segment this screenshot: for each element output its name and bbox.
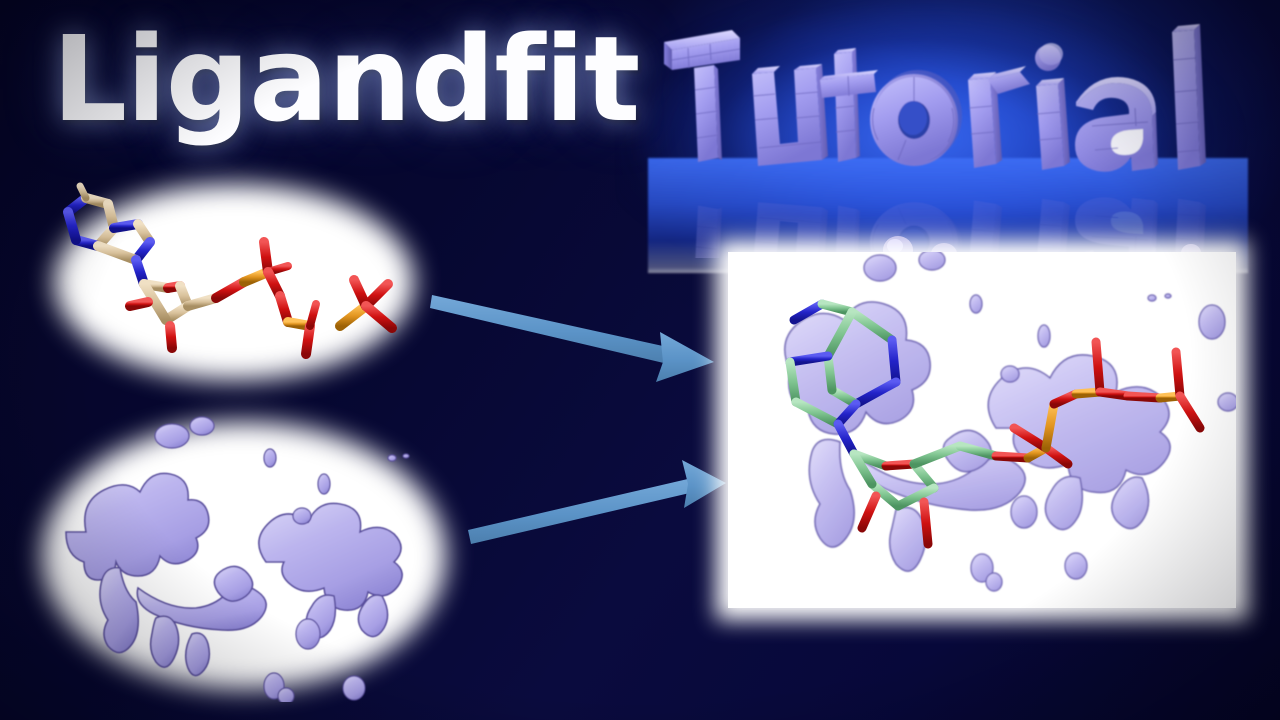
input-ligand-molecule-svg xyxy=(48,176,420,384)
arrow-ligand-to-result xyxy=(430,295,714,382)
page-title: Ligandfit xyxy=(52,20,639,138)
input-density-panel xyxy=(34,412,454,702)
fitted-ligand-in-density-svg xyxy=(728,252,1236,608)
tutorial-3d-title xyxy=(648,8,1248,258)
tutorial-letters-svg xyxy=(648,8,1248,258)
result-panel-card xyxy=(728,252,1236,608)
slide-canvas: Ligandfit xyxy=(0,0,1280,720)
input-ligand-panel xyxy=(48,176,420,384)
arrow-density-to-result xyxy=(468,460,726,544)
input-density-map-svg xyxy=(34,412,454,702)
result-fit-panel xyxy=(728,252,1236,608)
